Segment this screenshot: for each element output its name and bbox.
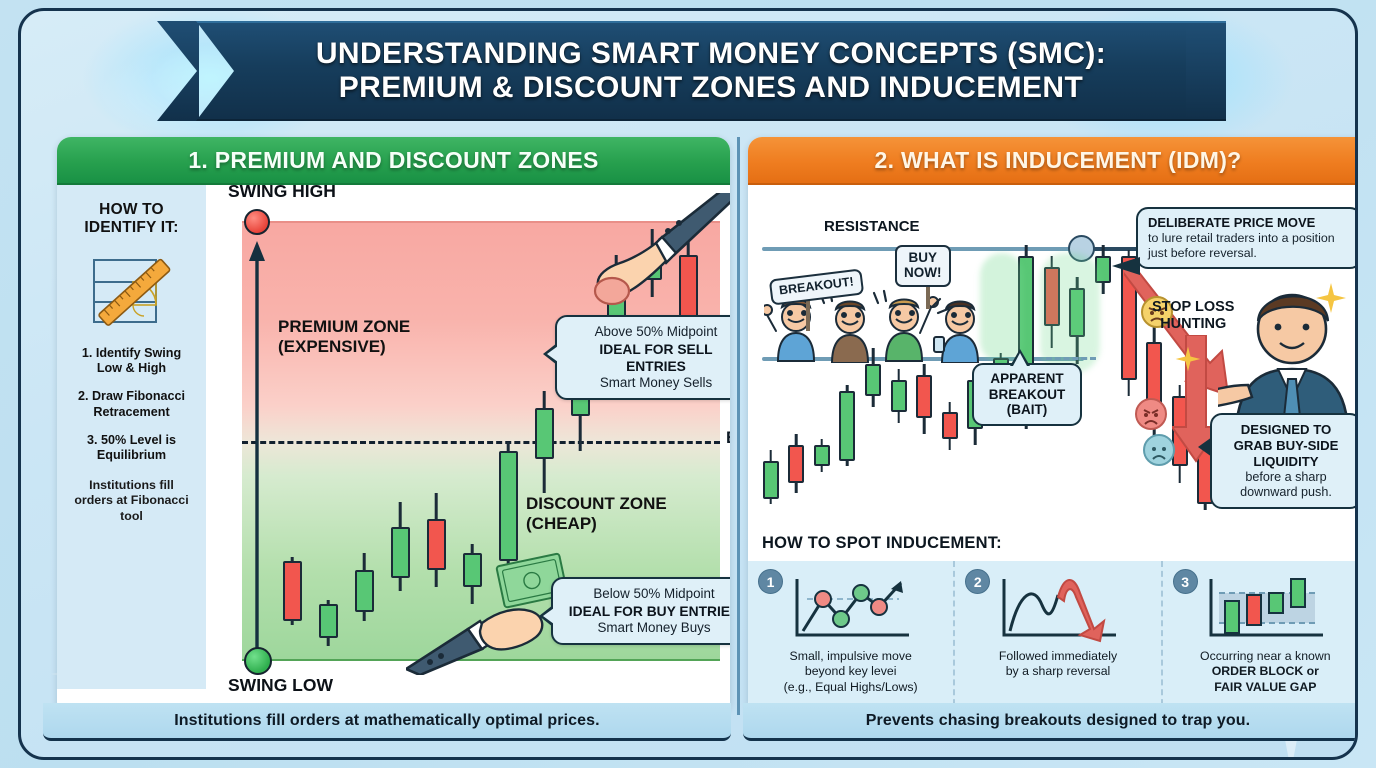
footer-right: Prevents chasing breakouts designed to t…	[743, 703, 1358, 741]
panel-right-header-label: 2. WHAT IS INDUCEMENT (IDM)?	[875, 147, 1242, 174]
stop-loss-line1: STOP LOSS	[1152, 299, 1234, 316]
candlestick	[355, 553, 374, 621]
callout-bait-line2: BREAKOUT	[980, 387, 1074, 403]
candle-body	[839, 391, 855, 461]
panel-right-header: 2. WHAT IS INDUCEMENT (IDM)?	[748, 137, 1358, 185]
discount-zone-line1: DISCOUNT ZONE	[526, 494, 667, 514]
candle-body	[535, 408, 554, 459]
panel-inducement: 2. WHAT IS INDUCEMENT (IDM)? RESISTANCE	[748, 137, 1358, 715]
sad-face-red-icon	[1134, 397, 1168, 431]
callout-liq-line1: DESIGNED TO GRAB BUY-SIDE LIQUIDITY	[1221, 422, 1351, 470]
how-to-identify-sidebar: HOW TO IDENTIFY IT:	[57, 185, 206, 689]
candle-body	[865, 364, 881, 396]
candle-body	[891, 380, 907, 412]
banner-title-line1: UNDERSTANDING SMART MONEY CONCEPTS (SMC)…	[316, 37, 1106, 71]
inducement-chart: RESISTANCE	[748, 185, 1358, 530]
candlestick	[839, 385, 855, 466]
equilibrium-label: EQUILIBRIUM (50%)	[726, 428, 730, 448]
order-block-candles-icon	[1199, 573, 1331, 645]
spot-item-3-badge: 3	[1173, 569, 1198, 594]
panel-left-header-label: 1. PREMIUM AND DISCOUNT ZONES	[188, 147, 598, 174]
equal-high-dashed-level	[1046, 357, 1096, 360]
how-to-title-line2: IDENTIFY IT:	[65, 219, 198, 237]
sparkle-star-icon	[1314, 281, 1348, 315]
candlestick	[535, 391, 554, 493]
premium-zone-line2: (EXPENSIVE)	[278, 337, 410, 357]
spot-item-2-text: Followed immediately by a sharp reversal	[963, 649, 1152, 680]
stop-loss-hunting-label: STOP LOSS HUNTING	[1152, 299, 1234, 332]
institutions-fibonacci-note: Institutions fill orders at Fibonacci to…	[65, 478, 198, 525]
candlestick	[788, 434, 804, 493]
stop-loss-line2: HUNTING	[1152, 316, 1234, 333]
footer-left-text: Institutions fill orders at mathematical…	[174, 712, 599, 730]
candle-body	[283, 561, 302, 621]
candle-body	[355, 570, 374, 613]
swing-high-marker	[244, 209, 270, 235]
callout-bait-line1: APPARENT	[980, 371, 1074, 387]
premium-zone-line1: PREMIUM ZONE	[278, 317, 410, 337]
discount-zone-label: DISCOUNT ZONE (CHEAP)	[526, 494, 667, 534]
spot-item-1-badge: 1	[758, 569, 783, 594]
fibonacci-ruler-icon	[86, 252, 178, 330]
footer-left: Institutions fill orders at mathematical…	[43, 703, 731, 741]
callout-tail	[1010, 349, 1030, 366]
how-to-identify-title: HOW TO IDENTIFY IT:	[65, 201, 198, 238]
equilibrium-line	[242, 441, 720, 444]
identify-step-2: 2. Draw Fibonacci Retracement	[65, 389, 198, 420]
swing-low-label: SWING LOW	[228, 675, 333, 696]
candlestick	[916, 364, 932, 434]
callout-sell-entries: Above 50% Midpoint IDEAL FOR SELL ENTRIE…	[555, 315, 730, 400]
candlestick	[319, 600, 338, 647]
sign-buy-now: BUY NOW!	[895, 245, 951, 287]
spot-item-1-line2: beyond key levei	[756, 664, 945, 679]
footer-right-text: Prevents chasing breakouts designed to t…	[866, 712, 1250, 730]
panel-left-header: 1. PREMIUM AND DISCOUNT ZONES	[57, 137, 730, 185]
callout-deliberate-price-move: DELIBERATE PRICE MOVE to lure retail tra…	[1136, 207, 1358, 269]
candlestick	[942, 402, 958, 451]
callout-buy-line1: Below 50% Midpoint	[566, 586, 730, 603]
spot-item-3: 3 Occurring near a known ORDER BLOCK or	[1161, 561, 1358, 715]
spot-item-2-line2: by a sharp reversal	[963, 664, 1152, 679]
spot-item-2-line1: Followed immediately	[963, 649, 1152, 664]
sad-face-blue-icon	[1142, 433, 1176, 467]
candle-body	[763, 461, 779, 499]
sparkle-star-icon	[1174, 345, 1202, 373]
candle-body	[319, 604, 338, 638]
spot-item-1-line1: Small, impulsive move	[756, 649, 945, 664]
callout-buy-entries: Below 50% Midpoint IDEAL FOR BUY ENTRIES…	[551, 577, 730, 645]
sign-buy-now-line2: NOW!	[904, 266, 942, 281]
sign-buy-now-line1: BUY	[904, 251, 942, 266]
premium-discount-chart: EQUILIBRIUM (50%) SWING HIGH SWING LOW P…	[206, 185, 730, 715]
panel-premium-discount: 1. PREMIUM AND DISCOUNT ZONES HOW TO IDE…	[57, 137, 730, 715]
candlestick	[283, 557, 302, 625]
spot-item-2-badge: 2	[965, 569, 990, 594]
zigzag-line-chart-icon	[785, 573, 917, 645]
callout-sell-line3: Smart Money Sells	[570, 375, 730, 392]
spot-item-3-line3: FAIR VALUE GAP	[1171, 680, 1358, 695]
spot-item-3-line1: Occurring near a known	[1171, 649, 1358, 664]
callout-sell-line1: Above 50% Midpoint	[570, 324, 730, 341]
candle-body	[942, 412, 958, 439]
spot-item-1-line3: (e.g., Equal Highs/Lows)	[756, 680, 945, 695]
callout-idm-line2: to lure retail traders into a position j…	[1148, 231, 1350, 261]
how-to-spot-items: 1 Small, impulsive move beyond key leve	[748, 561, 1358, 715]
candle-body	[814, 445, 830, 467]
candle-body	[916, 375, 932, 418]
swing-range-arrow-icon	[248, 241, 266, 661]
title-banner: UNDERSTANDING SMART MONEY CONCEPTS (SMC)…	[21, 21, 1355, 127]
infographic-frame: UNDERSTANDING SMART MONEY CONCEPTS (SMC)…	[18, 8, 1358, 760]
candlestick	[763, 450, 779, 504]
callout-tail	[1198, 437, 1212, 457]
callout-tail	[1112, 257, 1140, 275]
spot-item-3-line2: ORDER BLOCK or	[1171, 664, 1358, 679]
premium-zone-label: PREMIUM ZONE (EXPENSIVE)	[278, 317, 410, 357]
callout-bait-line3: (BAIT)	[980, 402, 1074, 418]
how-to-spot-title: HOW TO SPOT INDUCEMENT:	[762, 534, 1002, 553]
panel-divider	[737, 137, 740, 715]
breakout-glow	[1040, 253, 1100, 373]
spot-item-2: 2 Followed immediately by a sharp revers…	[953, 561, 1160, 715]
how-to-title-line1: HOW TO	[65, 201, 198, 219]
callout-apparent-breakout: APPARENT BREAKOUT (BAIT)	[972, 363, 1082, 426]
candlestick	[891, 369, 907, 423]
callout-tail	[539, 605, 553, 627]
callout-buy-line3: Smart Money Buys	[566, 620, 730, 637]
callout-buyside-liquidity: DESIGNED TO GRAB BUY-SIDE LIQUIDITY befo…	[1210, 413, 1358, 509]
swing-low-marker	[244, 647, 272, 675]
reversal-arrow-icon	[992, 573, 1124, 645]
callout-tail	[543, 343, 557, 365]
identify-step-3: 3. 50% Level is Equilibrium	[65, 433, 198, 464]
banner-title-line2: PREMIUM & DISCOUNT ZONES AND INDUCEMENT	[316, 71, 1106, 105]
callout-idm-line1: DELIBERATE PRICE MOVE	[1148, 215, 1350, 231]
spot-item-3-text: Occurring near a known ORDER BLOCK or FA…	[1171, 649, 1358, 695]
callout-buy-line2: IDEAL FOR BUY ENTRIES	[566, 603, 730, 620]
spot-item-1: 1 Small, impulsive move beyond key leve	[748, 561, 953, 715]
candle-body	[788, 445, 804, 483]
swing-high-label: SWING HIGH	[228, 181, 336, 202]
candlestick	[814, 439, 830, 471]
identify-step-1: 1. Identify Swing Low & High	[65, 346, 198, 377]
spot-item-1-text: Small, impulsive move beyond key levei (…	[756, 649, 945, 695]
discount-zone-line2: (CHEAP)	[526, 514, 667, 534]
callout-liq-line2: before a sharp downward push.	[1221, 470, 1351, 500]
callout-sell-line2: IDEAL FOR SELL ENTRIES	[570, 341, 730, 375]
resistance-label: RESISTANCE	[824, 218, 920, 235]
